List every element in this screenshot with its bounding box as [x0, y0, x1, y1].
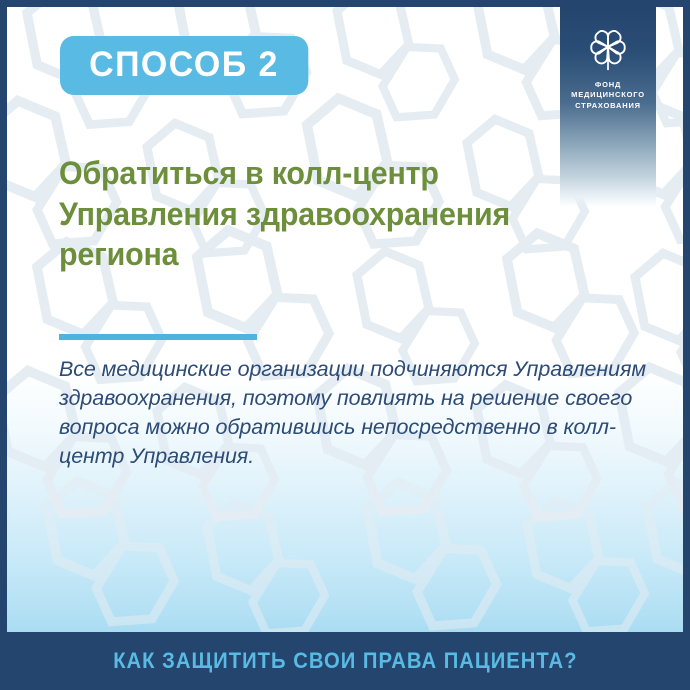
body-paragraph: Все медицинские организации подчиняются …	[59, 355, 659, 471]
flower-emblem-icon	[586, 25, 630, 73]
brand-logo-panel: ФОНД МЕДИЦИНСКОГО СТРАХОВАНИЯ	[560, 7, 656, 207]
infographic-poster: ФОНД МЕДИЦИНСКОГО СТРАХОВАНИЯ СПОСОБ 2 О…	[0, 0, 690, 690]
footer-banner: КАК ЗАЩИТИТЬ СВОИ ПРАВА ПАЦИЕНТА?	[0, 632, 690, 690]
footer-banner-text: КАК ЗАЩИТИТЬ СВОИ ПРАВА ПАЦИЕНТА?	[113, 648, 577, 674]
section-divider	[59, 334, 257, 340]
page-title: Обратиться в колл-центр Управления здрав…	[59, 153, 553, 275]
poster-card: ФОНД МЕДИЦИНСКОГО СТРАХОВАНИЯ СПОСОБ 2 О…	[7, 7, 683, 632]
brand-caption: ФОНД МЕДИЦИНСКОГО СТРАХОВАНИЯ	[571, 80, 645, 111]
step-badge: СПОСОБ 2	[60, 36, 308, 95]
